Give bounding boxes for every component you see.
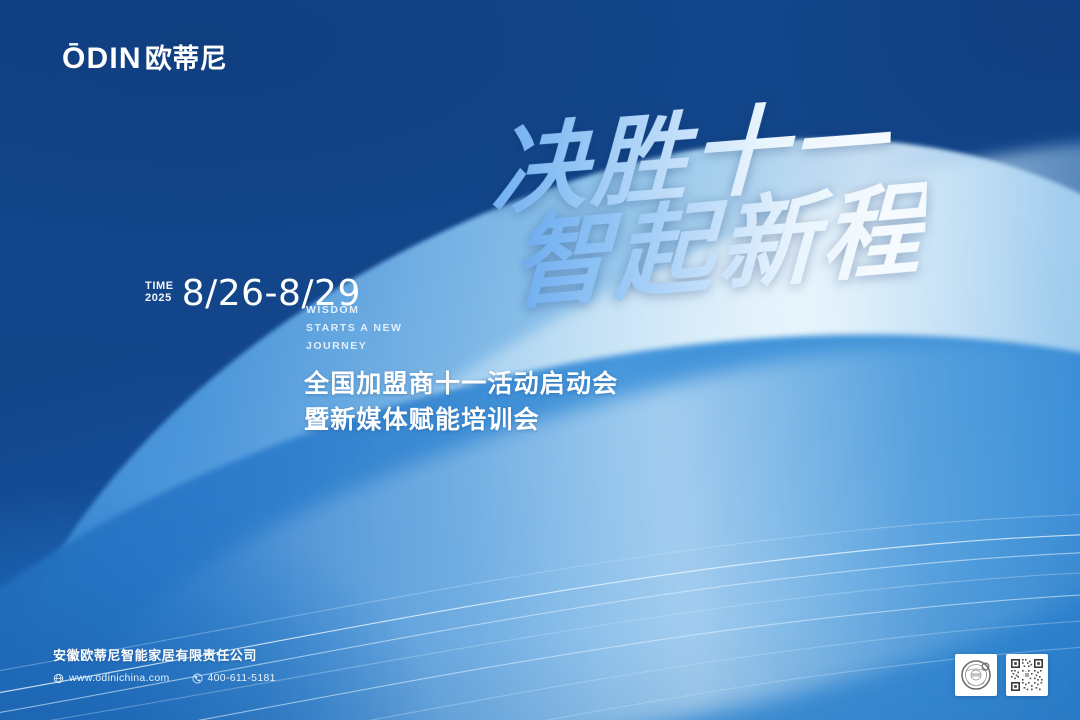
english-tagline-line-3: JOURNEY	[306, 337, 402, 355]
qr-code-icon	[1009, 657, 1045, 693]
event-subtitle-line-1: 全国加盟商十一活动启动会	[304, 366, 618, 402]
event-date-label-year: 2025	[145, 293, 174, 305]
english-tagline-line-1: WISDOM	[306, 301, 402, 319]
event-subtitle-line-2: 暨新媒体赋能培训会	[304, 402, 618, 438]
event-date-label-time: TIME	[145, 281, 174, 293]
brand-logo[interactable]: ŌDIN 欧蒂尼	[62, 44, 227, 74]
seal-stamp[interactable]	[955, 654, 997, 696]
english-tagline: WISDOM STARTS A NEW JOURNEY	[306, 301, 402, 355]
footer-company-name: 安徽欧蒂尼智能家居有限责任公司	[53, 648, 298, 666]
footer-phone[interactable]: 400-611-5181	[192, 672, 276, 684]
footer-website-text: www.odinichina.com	[69, 672, 170, 684]
brand-logo-latin: ŌDIN	[62, 44, 142, 74]
phone-icon	[192, 673, 203, 684]
footer-phone-text: 400-611-5181	[208, 672, 276, 684]
seal-icon	[958, 657, 994, 693]
footer-website[interactable]: www.odinichina.com	[53, 672, 170, 684]
footer-info: 安徽欧蒂尼智能家居有限责任公司 www.odinichina.com	[53, 648, 298, 684]
code-group	[955, 654, 1048, 696]
english-tagline-line-2: STARTS A NEW	[306, 319, 402, 337]
poster-headline: 决胜十一 智起新程	[481, 97, 908, 322]
footer-contact-row: www.odinichina.com 400-611-5181	[53, 672, 298, 684]
event-date-label: TIME 2025	[145, 281, 174, 308]
brand-logo-chinese: 欧蒂尼	[145, 46, 228, 73]
event-subtitle: 全国加盟商十一活动启动会 暨新媒体赋能培训会	[304, 366, 618, 437]
globe-icon	[53, 673, 64, 684]
event-poster: ŌDIN 欧蒂尼 决胜十一 智起新程 TIME 2025 8/26-8/29 W…	[0, 0, 1080, 720]
qr-code[interactable]	[1006, 654, 1048, 696]
